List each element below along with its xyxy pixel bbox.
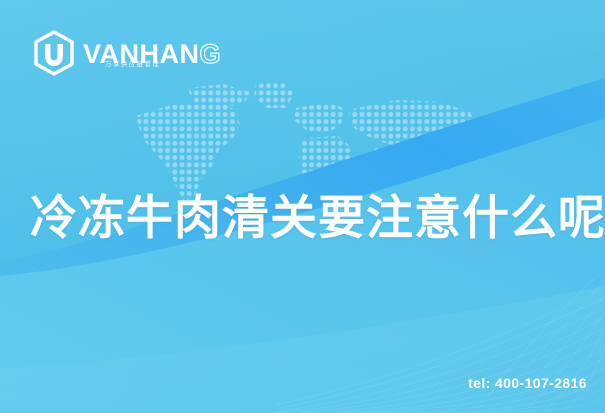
- promo-banner: VANHANG 万享供应链管理 冷冻牛肉清关要注意什么呢 tel: 400-10…: [0, 0, 605, 413]
- hexagon-shield-logo-icon: [32, 30, 76, 76]
- brand-wordmark-tail: G: [200, 39, 222, 69]
- contact-phone[interactable]: tel: 400-107-2816: [468, 375, 587, 391]
- brand-subtitle: 万享供应链管理: [105, 62, 160, 69]
- brand-logo[interactable]: VANHANG 万享供应链管理: [32, 30, 221, 76]
- brand-wordmark: VANHANG 万享供应链管理: [83, 39, 221, 68]
- page-title: 冷冻牛肉清关要注意什么呢: [30, 192, 590, 245]
